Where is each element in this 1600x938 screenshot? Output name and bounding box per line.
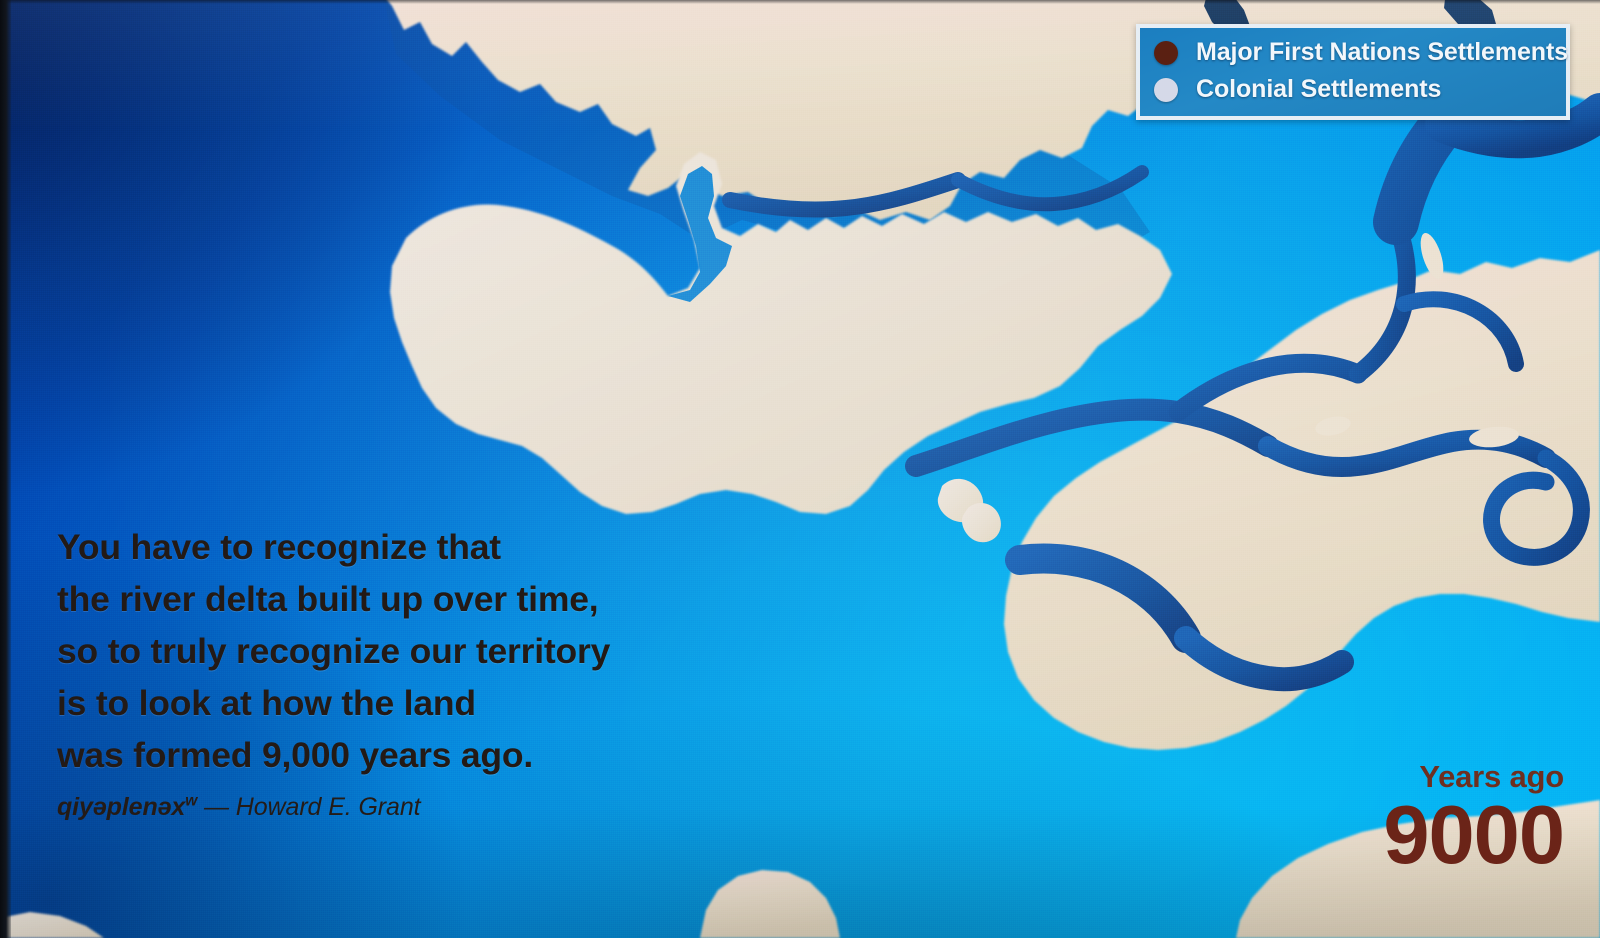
quote-line-3: so to truly recognize our territory [57, 625, 717, 677]
legend-item-first-nations: Major First Nations Settlements [1154, 34, 1556, 71]
quote-line-1: You have to recognize that [57, 521, 717, 573]
years-ago-value: 9000 [1383, 796, 1564, 874]
years-ago-counter: Years ago 9000 [1383, 758, 1564, 874]
map-display-screen: Major First Nations Settlements Colonial… [0, 0, 1600, 938]
attribution-native-superscript: w [185, 793, 197, 810]
attribution-native-text: qiyəplenəx [57, 793, 185, 821]
legend-item-colonial: Colonial Settlements [1154, 71, 1556, 108]
legend-label-colonial: Colonial Settlements [1196, 75, 1441, 104]
filled-circle-icon-colonial [1154, 78, 1178, 102]
attribution-native-name: qiyəplenəxw [57, 793, 197, 821]
filled-circle-icon-first-nations [1154, 41, 1178, 65]
exhibit-quote: You have to recognize that the river del… [57, 521, 717, 822]
map-legend: Major First Nations Settlements Colonial… [1136, 24, 1570, 120]
attribution-separator: — [197, 793, 236, 821]
quote-line-4: is to look at how the land [57, 677, 717, 729]
quote-attribution: qiyəplenəxw — Howard E. Grant [57, 793, 717, 822]
quote-line-5: was formed 9,000 years ago. [57, 729, 717, 781]
attribution-person-name: Howard E. Grant [236, 793, 421, 821]
south-island [700, 870, 840, 938]
southwest-shore [0, 912, 104, 938]
quote-line-2: the river delta built up over time, [57, 573, 717, 625]
legend-label-first-nations: Major First Nations Settlements [1196, 38, 1568, 67]
islet-b [962, 503, 1001, 542]
